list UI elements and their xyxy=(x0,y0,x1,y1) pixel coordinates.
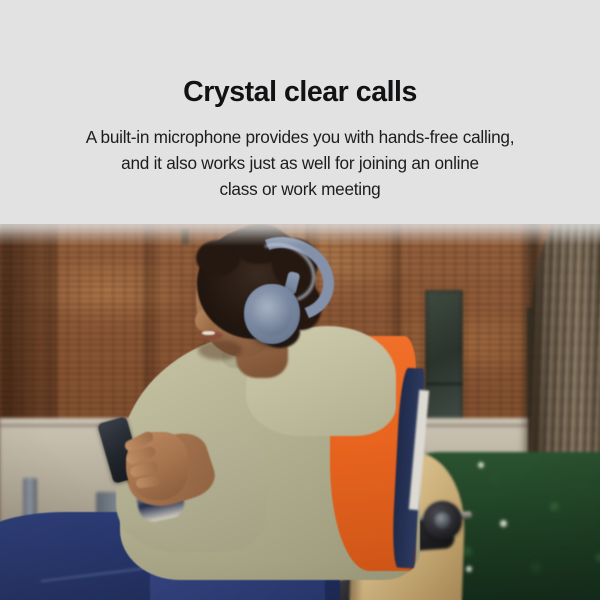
page-subtitle: A built-in microphone provides you with … xyxy=(0,107,600,202)
subtitle-line-1: A built-in microphone provides you with … xyxy=(0,124,600,150)
promo-card: Crystal clear calls A built-in microphon… xyxy=(0,0,600,600)
teeth xyxy=(202,331,215,335)
headphone-earcup-inner xyxy=(252,292,292,336)
subtitle-line-2: and it also works just as well for joini… xyxy=(0,150,600,176)
subtitle-line-3: class or work meeting xyxy=(0,176,600,202)
jaw-shadow xyxy=(198,340,242,360)
page-title: Crystal clear calls xyxy=(0,0,600,107)
text-panel: Crystal clear calls A built-in microphon… xyxy=(0,0,600,224)
